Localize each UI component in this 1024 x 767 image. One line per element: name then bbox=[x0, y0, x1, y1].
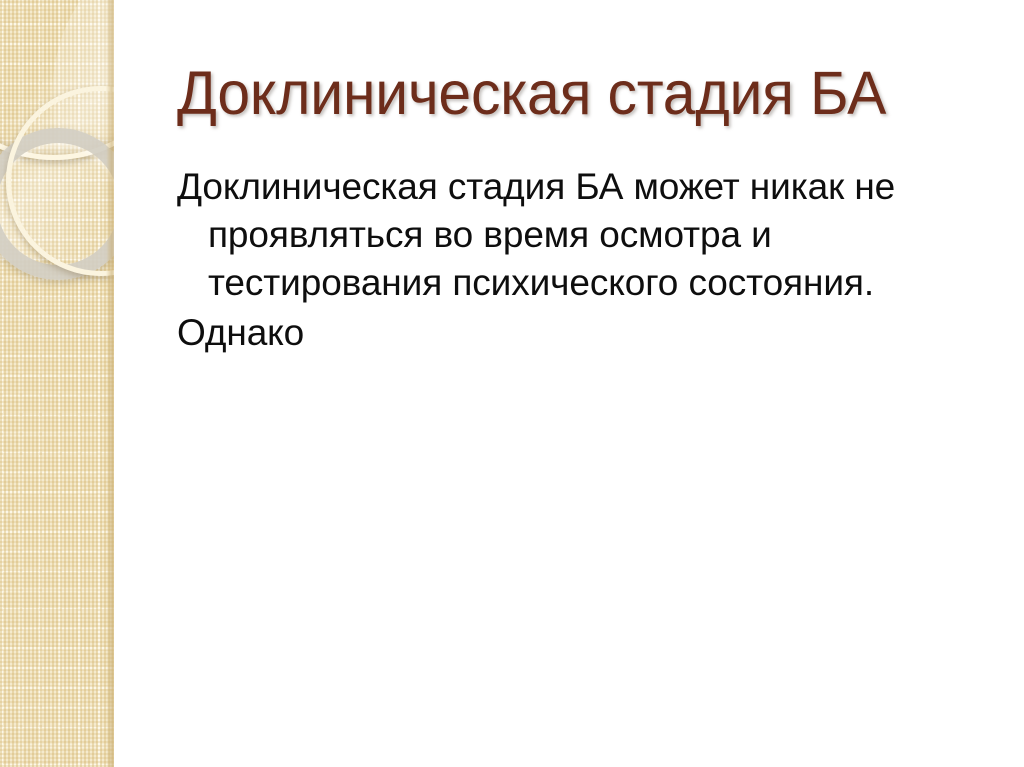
body-paragraph: Однако bbox=[177, 309, 983, 357]
presentation-slide: Доклиническая стадия БА Доклиническая ст… bbox=[0, 0, 1024, 767]
slide-body-text: Доклиническая стадия БА может никак не п… bbox=[177, 163, 983, 357]
sidebar-edge-band bbox=[106, 0, 114, 767]
page-title: Доклиническая стадия БА bbox=[177, 57, 949, 129]
slide-content-area: Доклиническая стадия БА Доклиническая ст… bbox=[114, 0, 1024, 767]
body-paragraph: Доклиническая стадия БА может никак не п… bbox=[177, 163, 983, 307]
slide-decorative-sidebar bbox=[0, 0, 114, 767]
